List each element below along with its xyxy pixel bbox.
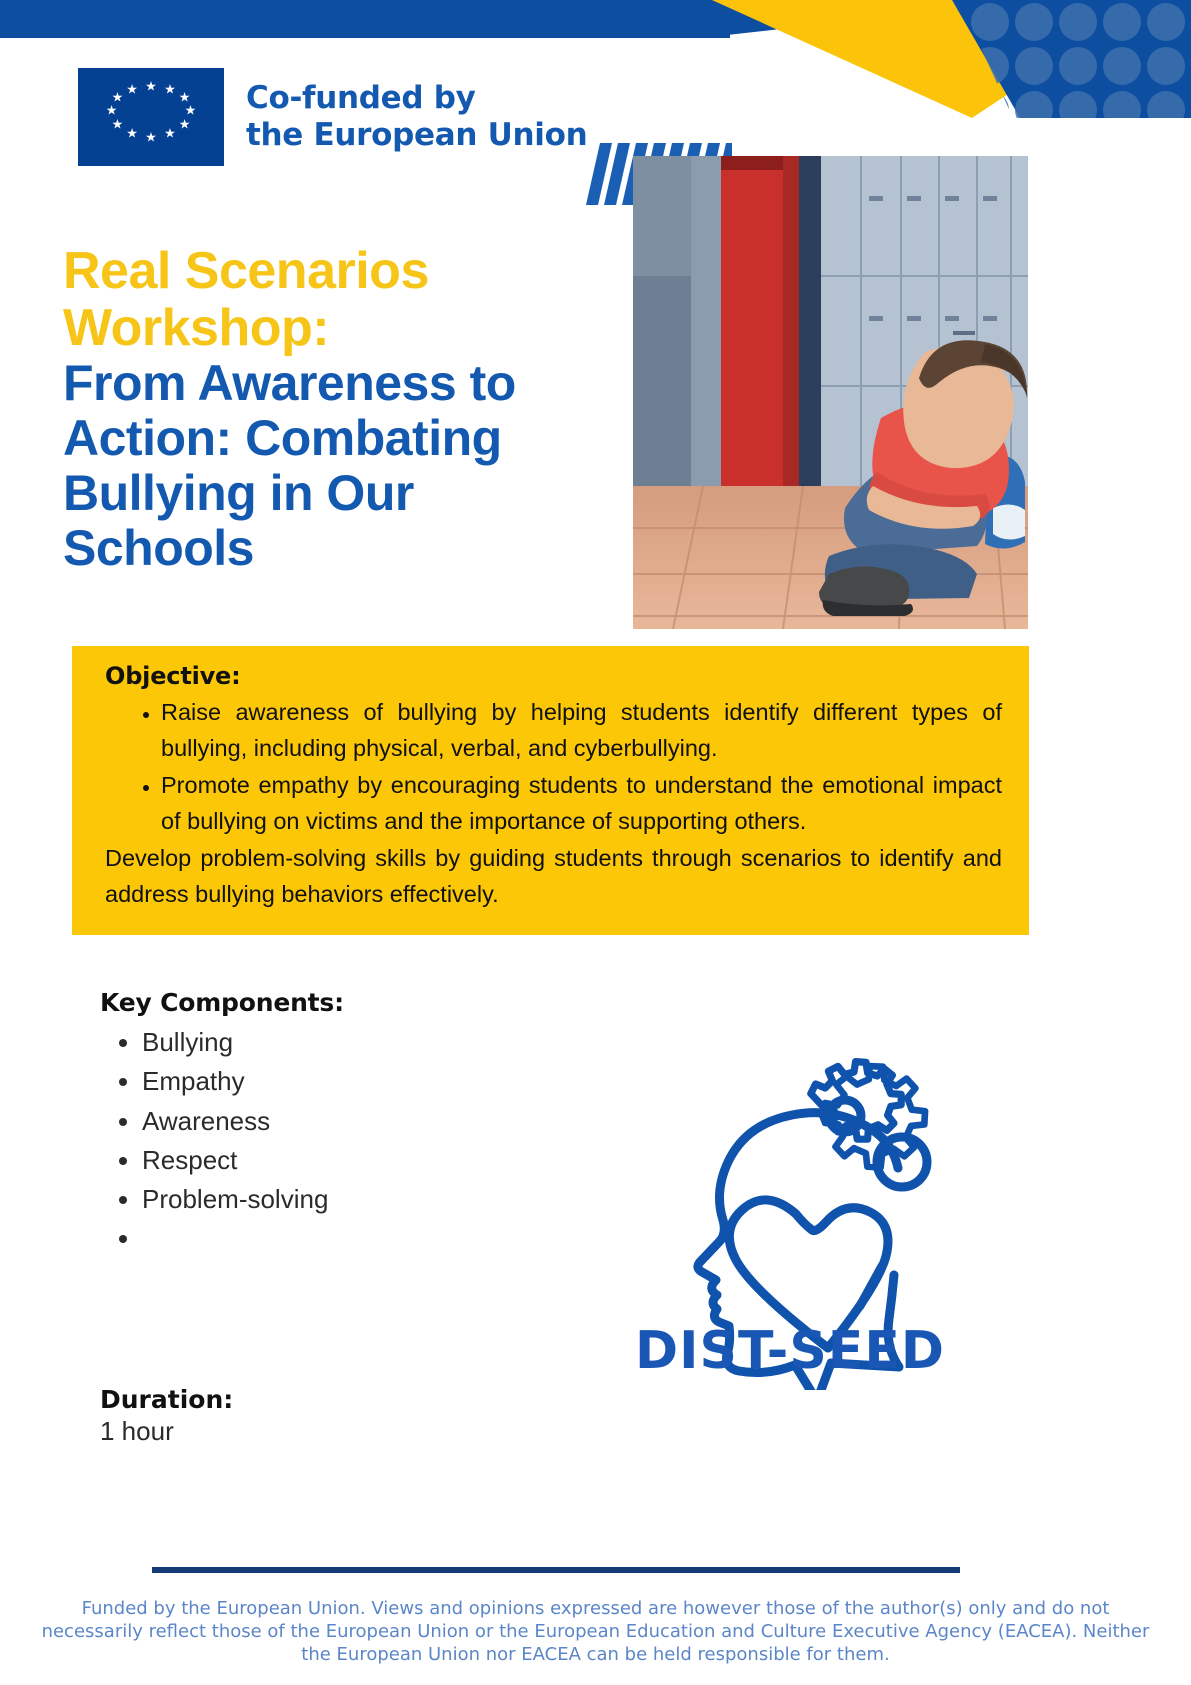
eu-star: ★ [185, 104, 197, 117]
distseed-logo: DIST-SEED [620, 1020, 960, 1390]
eu-star: ★ [145, 79, 157, 92]
objective-bullet: Promote empathy by encouraging students … [161, 767, 1002, 840]
eu-star: ★ [126, 82, 138, 95]
title-blue-line-4: Schools [63, 521, 583, 576]
title-blue-line-3: Bullying in Our [63, 466, 583, 521]
footer-disclaimer: Funded by the European Union. Views and … [40, 1597, 1151, 1666]
eu-funding-line1: Co-funded by [246, 80, 476, 116]
hero-photo [633, 156, 1028, 629]
title-blue-line-1: From Awareness to [63, 356, 583, 411]
key-components-heading: Key Components: [100, 988, 570, 1017]
objective-panel: Objective: Raise awareness of bullying b… [72, 646, 1029, 935]
objective-bullet-list: Raise awareness of bullying by helping s… [105, 694, 1002, 840]
footer-divider [152, 1567, 960, 1573]
key-components-list: Bullying Empathy Awareness Respect Probl… [100, 1023, 570, 1259]
objective-paragraph: Develop problem-solving skills by guidin… [105, 840, 1002, 913]
duration-section: Duration: 1 hour [100, 1385, 500, 1447]
eu-funding-block: ★ ★ ★ ★ ★ ★ ★ ★ ★ ★ ★ ★ Co-funded by the… [78, 68, 587, 166]
list-item: Bullying [142, 1023, 570, 1062]
title-blue-line-2: Action: Combating [63, 411, 583, 466]
list-item: Awareness [142, 1102, 570, 1141]
duration-value: 1 hour [100, 1416, 500, 1447]
eu-star: ★ [179, 117, 191, 130]
eu-star: ★ [164, 82, 176, 95]
title-yellow-line-2: Workshop: [63, 300, 583, 357]
objective-heading: Objective: [105, 662, 1002, 690]
eu-funding-line2: the European Union [246, 117, 587, 153]
eu-star: ★ [145, 130, 157, 143]
list-item: Empathy [142, 1062, 570, 1101]
distseed-wordmark: DIST-SEED [635, 1321, 945, 1381]
page-title: Real Scenarios Workshop: From Awareness … [63, 243, 583, 576]
eu-star: ★ [112, 91, 124, 104]
eu-star: ★ [112, 117, 124, 130]
title-yellow-line-1: Real Scenarios [63, 243, 583, 300]
eu-star: ★ [164, 126, 176, 139]
eu-flag-emblem: ★ ★ ★ ★ ★ ★ ★ ★ ★ ★ ★ ★ [78, 68, 224, 166]
duration-heading: Duration: [100, 1385, 500, 1414]
eu-star: ★ [106, 104, 118, 117]
list-item [142, 1219, 570, 1258]
objective-bullet: Raise awareness of bullying by helping s… [161, 694, 1002, 767]
key-components-section: Key Components: Bullying Empathy Awarene… [100, 988, 570, 1259]
eu-funding-label: Co-funded by the European Union [246, 80, 587, 153]
list-item: Respect [142, 1141, 570, 1180]
list-item: Problem-solving [142, 1180, 570, 1219]
eu-star: ★ [126, 126, 138, 139]
